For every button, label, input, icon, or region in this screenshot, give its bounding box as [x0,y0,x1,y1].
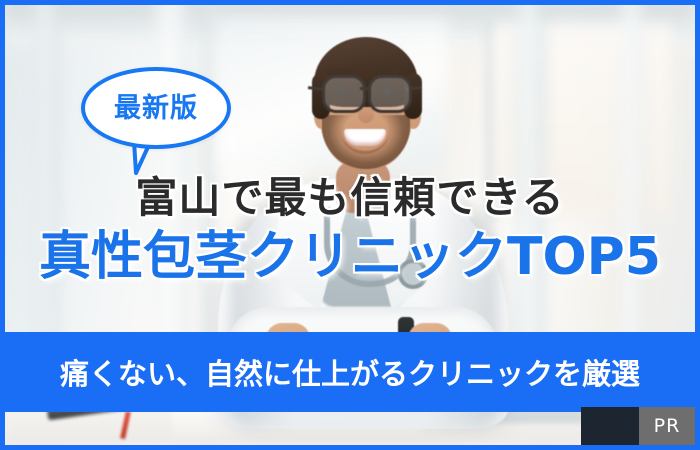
ad-banner[interactable]: 最新版 富山で最も信頼できる 真性包茎クリニックTOP5 痛くない、自然に仕上が… [0,0,700,450]
glasses-bridge [360,87,370,90]
doctor-smile [344,129,386,146]
headline-line-1: 富山で最も信頼できる [5,173,695,223]
headline-line-2: 真性包茎クリニックTOP5 [5,229,695,286]
pr-badge: PR [639,407,695,445]
pr-badge-dark-strip [581,407,639,445]
glasses-lens [322,75,366,113]
pr-badge-label: PR [654,417,681,436]
glasses-lens [368,75,412,113]
latest-version-badge-label: 最新版 [114,95,198,122]
latest-version-badge: 最新版 [81,67,231,149]
headline-block: 富山で最も信頼できる 真性包茎クリニックTOP5 [5,173,695,286]
subheadline-text: 痛くない、自然に仕上がるクリニックを厳選 [60,351,640,393]
subheadline-banner: 痛くない、自然に仕上がるクリニックを厳選 [5,332,695,412]
